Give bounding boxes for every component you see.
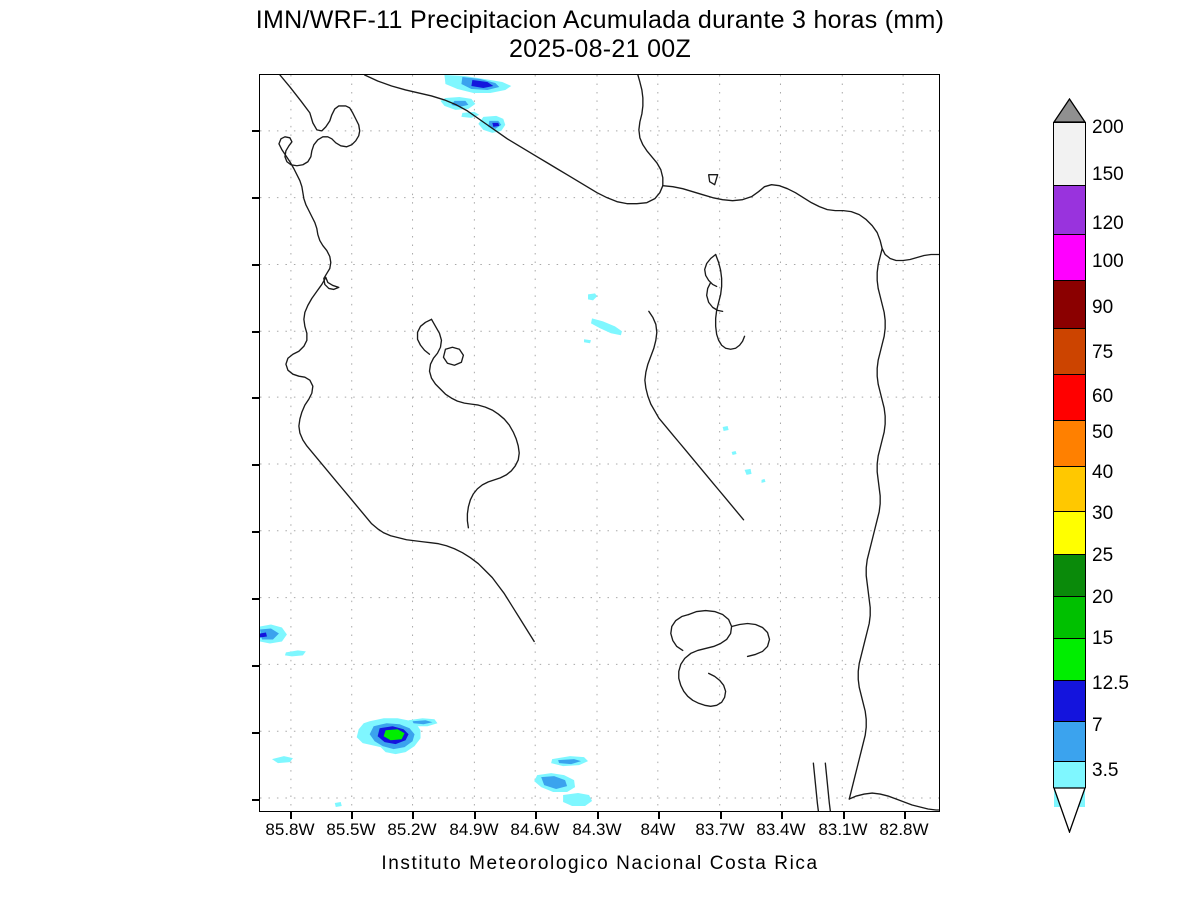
- xtick-label: 85.5W: [326, 820, 375, 840]
- colorbar-label: 7: [1092, 715, 1103, 737]
- colorbar-label: 40: [1092, 462, 1113, 484]
- xtick-mark: [720, 812, 722, 819]
- xtick-mark: [290, 812, 292, 819]
- xtick-mark: [535, 812, 537, 819]
- colorbar-label: 12.5: [1092, 673, 1129, 695]
- colorbar-extend-low-arrow: [1053, 787, 1086, 833]
- ytick-mark: [252, 397, 259, 399]
- colorbar-cell-50: [1054, 467, 1085, 512]
- ytick-mark: [252, 799, 259, 801]
- xtick-label: 83.1W: [818, 820, 867, 840]
- xtick-label: 84.3W: [572, 820, 621, 840]
- colorbar-cells: [1053, 122, 1086, 788]
- colorbar-cell-12p5: [1054, 722, 1085, 762]
- title-line-datetime: 2025-08-21 00Z: [0, 35, 1200, 64]
- title-line-main: IMN/WRF-11 Precipitacion Acumulada duran…: [0, 6, 1200, 35]
- colorbar-label: 3.5: [1092, 760, 1118, 782]
- ytick-mark: [252, 598, 259, 600]
- xtick-mark: [904, 812, 906, 819]
- colorbar-label: 90: [1092, 297, 1113, 319]
- xtick-mark: [843, 812, 845, 819]
- ytick-mark: [252, 197, 259, 199]
- xtick-label: 85.8W: [265, 820, 314, 840]
- colorbar-label: 25: [1092, 545, 1113, 567]
- ytick-mark: [252, 665, 259, 667]
- colorbar-label: 75: [1092, 342, 1113, 364]
- colorbar-label: 100: [1092, 251, 1124, 273]
- colorbar-label: 15: [1092, 628, 1113, 650]
- colorbar-label: 150: [1092, 164, 1124, 186]
- xtick-label: 82.8W: [879, 820, 928, 840]
- coastline-paths: [279, 75, 939, 811]
- ytick-mark: [252, 531, 259, 533]
- colorbar-cell-75: [1054, 375, 1085, 421]
- xtick-mark: [658, 812, 660, 819]
- colorbar-label: 200: [1092, 117, 1124, 139]
- ytick-mark: [252, 130, 259, 132]
- ytick-mark: [252, 264, 259, 266]
- colorbar-cell-20: [1054, 639, 1085, 681]
- colorbar-cell-60: [1054, 421, 1085, 467]
- xtick-label: 84W: [641, 820, 676, 840]
- ytick-mark: [252, 732, 259, 734]
- colorbar-cell-200: [1054, 123, 1085, 186]
- map-plot-area: [259, 74, 940, 812]
- map-contours-and-coastline: [260, 75, 939, 811]
- precip-contour-fills: [260, 75, 879, 811]
- colorbar-label: 120: [1092, 213, 1124, 235]
- ytick-mark: [252, 331, 259, 333]
- xtick-mark: [351, 812, 353, 819]
- ytick-mark: [252, 464, 259, 466]
- colorbar-extend-high-arrow: [1053, 98, 1086, 123]
- colorbar-cell-100: [1054, 281, 1085, 329]
- xtick-mark: [474, 812, 476, 819]
- colorbar-cell-25: [1054, 597, 1085, 639]
- xtick-label: 85.2W: [387, 820, 436, 840]
- colorbar-label: 60: [1092, 386, 1113, 408]
- colorbar-cell-30: [1054, 555, 1085, 597]
- figure-footer-credit: Instituto Meteorologico Nacional Costa R…: [0, 853, 1200, 875]
- colorbar-label: 20: [1092, 587, 1113, 609]
- xtick-label: 84.9W: [449, 820, 498, 840]
- xtick-mark: [412, 812, 414, 819]
- colorbar-label: 50: [1092, 422, 1113, 444]
- colorbar-cell-90: [1054, 329, 1085, 375]
- xtick-mark: [781, 812, 783, 819]
- xtick-label: 83.4W: [756, 820, 805, 840]
- colorbar-cell-40: [1054, 512, 1085, 555]
- precipitation-colorbar: [1053, 98, 1086, 812]
- colorbar-cell-150: [1054, 186, 1085, 235]
- colorbar-cell-15: [1054, 681, 1085, 722]
- colorbar-cell-120: [1054, 235, 1085, 281]
- colorbar-label: 30: [1092, 503, 1113, 525]
- xtick-mark: [597, 812, 599, 819]
- xtick-label: 84.6W: [510, 820, 559, 840]
- figure-title: IMN/WRF-11 Precipitacion Acumulada duran…: [0, 6, 1200, 64]
- precipitation-map-figure: IMN/WRF-11 Precipitacion Acumulada duran…: [0, 0, 1200, 900]
- xtick-label: 83.7W: [695, 820, 744, 840]
